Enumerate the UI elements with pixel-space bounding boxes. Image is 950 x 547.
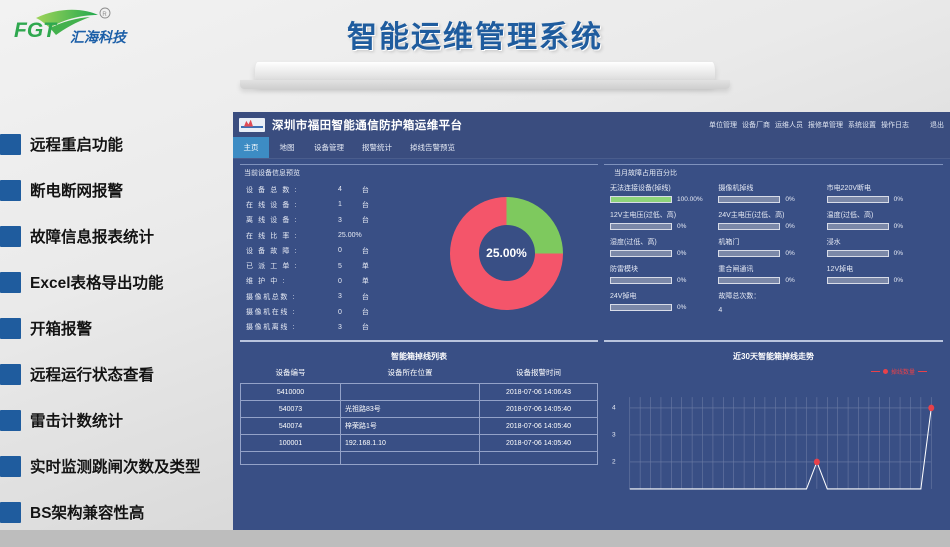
cell-empty: [241, 452, 341, 465]
fault-metric-label: 市电220V断电: [827, 183, 935, 193]
fault-percentage-panel: 当月故障占用百分比 无法连接设备(掉线)100.00%摄像机掉线0%市电220V…: [604, 164, 943, 342]
stat-unit: 台: [362, 307, 369, 317]
stat-row: 设 备 总 数 :4台: [246, 182, 415, 197]
stat-value: 4: [338, 186, 342, 193]
fault-metrics-grid: 无法连接设备(掉线)100.00%摄像机掉线0%市电220V断电0%12V主电压…: [610, 180, 943, 320]
fault-percent-label: 0%: [894, 250, 903, 257]
device-overview-panel: 当前设备信息预览 设 备 总 数 :4台在 线 设 备 :1台离 线 设 备 :…: [240, 164, 598, 342]
table-row[interactable]: 100001192.168.1.102018-07-06 14:05:40: [241, 435, 598, 452]
feature-bullet-item: 开箱报警: [0, 305, 252, 351]
trend-chart-plot: 234: [626, 391, 935, 493]
fault-metric: 重合闸通讯0%: [718, 264, 826, 290]
stat-label: 已 派 工 单 :: [246, 261, 338, 271]
fault-percent-label: 0%: [677, 304, 686, 311]
stat-unit: 台: [362, 292, 369, 302]
fault-metric: 市电220V断电0%: [827, 183, 935, 209]
stat-row: 摄像机离线 :3台: [246, 320, 415, 335]
fault-metric-label: 24V主电压(过低、高): [718, 210, 826, 220]
feature-bullet-item: 断电断网报警: [0, 167, 252, 213]
fault-metric: 机箱门0%: [718, 237, 826, 263]
fault-metric-label: 防雷模块: [610, 264, 718, 274]
app-tab-bar: 主页地图设备管理报警统计掉线告警预览: [233, 137, 950, 159]
cell-location: 光祖路83号: [341, 401, 480, 418]
app-content: 当前设备信息预览 设 备 总 数 :4台在 线 设 备 :1台离 线 设 备 :…: [233, 159, 950, 497]
fault-progress-bar: [610, 196, 672, 203]
fault-metric: 防雷模块0%: [610, 264, 718, 290]
feature-bullet-item: Excel表格导出功能: [0, 259, 252, 305]
fault-percent-label: 0%: [894, 196, 903, 203]
logo-svg: FGT 汇海科技 R: [6, 4, 136, 50]
feature-bullet-item: BS架构兼容性高: [0, 489, 252, 535]
monitor-shelf-base-graphic: [240, 80, 730, 89]
bullet-square-icon: [0, 364, 21, 385]
trend-chart-title: 近30天智能箱掉线走势: [604, 347, 943, 362]
cell-empty: [341, 452, 480, 465]
fault-metric-label: 温度(过低、高): [827, 210, 935, 220]
legend-dot-icon: [883, 369, 888, 374]
legend-line-icon: [871, 371, 880, 372]
trend-chart-svg: [626, 391, 935, 493]
cell-device-id: 100001: [241, 435, 341, 452]
feature-bullet-label: 断电断网报警: [30, 179, 123, 201]
tab-5[interactable]: 掉线告警预览: [401, 137, 464, 158]
stat-value: 1: [338, 201, 342, 208]
stat-value: 0: [338, 247, 342, 254]
table-row-blank: [241, 452, 598, 465]
stat-row: 已 派 工 单 :5单: [246, 258, 415, 273]
stat-row: 设 备 故 障 :0台: [246, 243, 415, 258]
cell-device-id: 5410000: [241, 384, 341, 401]
fault-progress-bar: [610, 250, 672, 257]
fault-metric-label: 浸水: [827, 237, 935, 247]
y-axis-tick-label: 4: [612, 404, 616, 411]
cell-device-id: 540074: [241, 418, 341, 435]
stat-value: 3: [338, 217, 342, 224]
bullet-square-icon: [0, 456, 21, 477]
feature-bullet-label: 远程运行状态查看: [30, 363, 154, 385]
stat-label: 维 护 中 :: [246, 276, 338, 286]
bullet-square-icon: [0, 226, 21, 247]
bullet-square-icon: [0, 134, 21, 155]
stat-value: 3: [338, 324, 342, 331]
fault-metric: 无法连接设备(掉线)100.00%: [610, 183, 718, 209]
cell-location: [341, 384, 480, 401]
dashboard-bottom-row: 智能箱掉线列表 设备编号设备所在位置设备报警时间 54100002018-07-…: [240, 347, 943, 497]
fault-percent-label: 0%: [894, 223, 903, 230]
fault-metric: 12V掉电0%: [827, 264, 935, 290]
tab-4[interactable]: 报警统计: [353, 137, 401, 158]
stat-row: 在 线 设 备 :1台: [246, 197, 415, 212]
feature-bullet-item: 远程重启功能: [0, 121, 252, 167]
fault-metric-label: 重合闸通讯: [718, 264, 826, 274]
table-row[interactable]: 54100002018-07-06 14:06:43: [241, 384, 598, 401]
feature-bullet-list: 远程重启功能断电断网报警故障信息报表统计Excel表格导出功能开箱报警远程运行状…: [0, 121, 252, 535]
fault-metric-label: 无法连接设备(掉线): [610, 183, 718, 193]
bullet-square-icon: [0, 410, 21, 431]
app-title: 深圳市福田智能通信防护箱运维平台: [272, 117, 462, 133]
table-row[interactable]: 540074梓荣路1号2018-07-06 14:05:40: [241, 418, 598, 435]
fault-metric-label: 12V掉电: [827, 264, 935, 274]
offline-device-table: 设备编号设备所在位置设备报警时间 54100002018-07-06 14:06…: [240, 367, 598, 465]
fault-progress-bar: [718, 250, 780, 257]
stat-unit: 台: [362, 200, 369, 210]
table-header-row: 设备编号设备所在位置设备报警时间: [241, 367, 598, 384]
cell-device-id: 540073: [241, 401, 341, 418]
fault-percent-label: 0%: [785, 223, 794, 230]
stat-unit: 单: [362, 276, 369, 286]
fault-metric-label: 24V掉电: [610, 291, 718, 301]
cell-alarm-time: 2018-07-06 14:05:40: [480, 418, 598, 435]
topnav-item[interactable]: 操作日志: [881, 120, 909, 130]
cell-location: 梓荣路1号: [341, 418, 480, 435]
cell-alarm-time: 2018-07-06 14:05:40: [480, 435, 598, 452]
cell-empty: [480, 452, 598, 465]
stat-row: 摄像机总数 :3台: [246, 289, 415, 304]
tab-3[interactable]: 设备管理: [305, 137, 353, 158]
fault-panel-title: 当月故障占用百分比: [610, 165, 943, 180]
svg-text:R: R: [102, 12, 107, 18]
fault-total: 故障总次数：4: [718, 291, 826, 320]
stat-label: 设 备 总 数 :: [246, 185, 338, 195]
bullet-square-icon: [0, 272, 21, 293]
stat-unit: 台: [362, 246, 369, 256]
fault-total-label: 故障总次数：: [718, 291, 826, 301]
fault-progress-bar: [827, 223, 889, 230]
fault-progress-bar: [718, 223, 780, 230]
stat-value: 0: [338, 309, 342, 316]
bullet-square-icon: [0, 502, 21, 523]
svg-text:FGT: FGT: [14, 19, 58, 42]
stat-value: 25.00%: [338, 232, 362, 239]
fault-percent-label: 0%: [677, 250, 686, 257]
fault-progress-bar: [610, 277, 672, 284]
page-title: 智能运维管理系统: [250, 12, 700, 56]
stat-label: 摄像机离线 :: [246, 322, 338, 332]
fault-percent-label: 0%: [785, 250, 794, 257]
feature-bullet-item: 故障信息报表统计: [0, 213, 252, 259]
feature-bullet-label: 故障信息报表统计: [30, 225, 154, 247]
stat-row: 离 线 设 备 :3台: [246, 213, 415, 228]
fault-progress-bar: [610, 304, 672, 311]
stat-unit: 台: [362, 215, 369, 225]
bullet-square-icon: [0, 318, 21, 339]
stat-label: 在 线 比 率 :: [246, 231, 338, 241]
fault-metric-label: 摄像机掉线: [718, 183, 826, 193]
cell-alarm-time: 2018-07-06 14:05:40: [480, 401, 598, 418]
table-row[interactable]: 540073光祖路83号2018-07-06 14:05:40: [241, 401, 598, 418]
offline-trend-panel: 近30天智能箱掉线走势 掉线数量 234: [604, 347, 943, 497]
tab-2[interactable]: 地图: [269, 137, 305, 158]
feature-bullet-label: BS架构兼容性高: [30, 501, 145, 523]
cell-alarm-time: 2018-07-06 14:06:43: [480, 384, 598, 401]
app-header: 深圳市福田智能通信防护箱运维平台 单位管理设备厂商运维人员报修单管理系统设置操作…: [233, 112, 950, 137]
feature-bullet-item: 雷击计数统计: [0, 397, 252, 443]
svg-text:汇海科技: 汇海科技: [70, 29, 128, 45]
column-header: 设备编号: [241, 367, 341, 384]
fault-metric: 24V掉电0%: [610, 291, 718, 320]
topnav-item[interactable]: 设备厂商: [742, 120, 770, 130]
feature-bullet-item: 远程运行状态查看: [0, 351, 252, 397]
fault-percent-label: 0%: [677, 277, 686, 284]
offline-list-panel: 智能箱掉线列表 设备编号设备所在位置设备报警时间 54100002018-07-…: [240, 347, 598, 497]
y-axis-tick-label: 2: [612, 458, 616, 465]
bullet-square-icon: [0, 180, 21, 201]
fault-progress-bar: [827, 196, 889, 203]
stat-unit: 单: [362, 261, 369, 271]
fault-metric: 湿度(过低、高)0%: [610, 237, 718, 263]
device-overview-title: 当前设备信息预览: [240, 165, 598, 180]
fault-metric-label: 湿度(过低、高): [610, 237, 718, 247]
fault-metric: 温度(过低、高)0%: [827, 210, 935, 236]
topnav-item[interactable]: 系统设置: [848, 120, 876, 130]
app-logo-icon: [239, 118, 265, 132]
fault-percent-label: 0%: [894, 277, 903, 284]
trend-chart-legend: 掉线数量: [871, 367, 927, 376]
fault-percent-label: 100.00%: [677, 196, 703, 203]
legend-line-icon-2: [918, 371, 927, 372]
feature-bullet-item: 实时监测跳闸次数及类型: [0, 443, 252, 489]
offline-list-title: 智能箱掉线列表: [240, 347, 598, 367]
stat-label: 摄像机在线 :: [246, 307, 338, 317]
fault-percent-label: 0%: [677, 223, 686, 230]
topnav-item[interactable]: 运维人员: [775, 120, 803, 130]
legend-label: 掉线数量: [891, 367, 915, 376]
fault-percent-label: 0%: [785, 277, 794, 284]
feature-bullet-label: 开箱报警: [30, 317, 92, 339]
fault-progress-bar: [718, 196, 780, 203]
fault-progress-bar: [610, 223, 672, 230]
fault-progress-bar: [718, 277, 780, 284]
fault-total-value: 4: [718, 304, 826, 314]
fault-metric-label: 机箱门: [718, 237, 826, 247]
fault-metric-label: 12V主电压(过低、高): [610, 210, 718, 220]
fault-metric: 浸水0%: [827, 237, 935, 263]
stat-unit: 台: [362, 322, 369, 332]
stat-label: 离 线 设 备 :: [246, 215, 338, 225]
stat-label: 设 备 故 障 :: [246, 246, 338, 256]
company-logo: FGT 汇海科技 R: [6, 4, 136, 50]
y-axis-tick-label: 3: [612, 431, 616, 438]
stat-label: 在 线 设 备 :: [246, 200, 338, 210]
topnav-item[interactable]: 报修单管理: [808, 120, 843, 130]
stat-row: 在 线 比 率 :25.00%: [246, 228, 415, 243]
stat-label: 摄像机总数 :: [246, 292, 338, 302]
fault-metric: 摄像机掉线0%: [718, 183, 826, 209]
topnav-item[interactable]: 退出: [930, 120, 944, 130]
tab-1[interactable]: 主页: [233, 137, 269, 158]
feature-bullet-label: Excel表格导出功能: [30, 271, 164, 293]
feature-bullet-label: 远程重启功能: [30, 133, 123, 155]
feature-bullet-label: 雷击计数统计: [30, 409, 123, 431]
topnav-item[interactable]: 单位管理: [709, 120, 737, 130]
column-header: 设备所在位置: [341, 367, 480, 384]
slide-bottom-strip: [0, 530, 950, 547]
stat-row: 维 护 中 :0单: [246, 274, 415, 289]
stat-row: 摄像机在线 :0台: [246, 304, 415, 319]
fault-percent-label: 0%: [785, 196, 794, 203]
fault-metric: 24V主电压(过低、高)0%: [718, 210, 826, 236]
table-body: 54100002018-07-06 14:06:43540073光祖路83号20…: [241, 384, 598, 465]
online-ratio-chart: 25.00%: [415, 180, 598, 335]
dashboard-top-row: 当前设备信息预览 设 备 总 数 :4台在 线 设 备 :1台离 线 设 备 :…: [240, 164, 943, 342]
application-window: 深圳市福田智能通信防护箱运维平台 单位管理设备厂商运维人员报修单管理系统设置操作…: [233, 112, 950, 530]
donut-chart: 25.00%: [450, 197, 563, 310]
fault-progress-bar: [827, 250, 889, 257]
column-header: 设备报警时间: [480, 367, 598, 384]
donut-center-label: 25.00%: [479, 225, 535, 281]
fault-metric: 12V主电压(过低、高)0%: [610, 210, 718, 236]
stat-value: 5: [338, 263, 342, 270]
feature-bullet-label: 实时监测跳闸次数及类型: [30, 455, 201, 477]
stat-value: 0: [338, 278, 342, 285]
app-top-nav: 单位管理设备厂商运维人员报修单管理系统设置操作日志退出: [709, 112, 944, 137]
cell-location: 192.168.1.10: [341, 435, 480, 452]
stat-unit: 台: [362, 185, 369, 195]
fault-progress-bar: [827, 277, 889, 284]
stat-value: 3: [338, 293, 342, 300]
device-stats-list: 设 备 总 数 :4台在 线 设 备 :1台离 线 设 备 :3台在 线 比 率…: [240, 180, 415, 335]
